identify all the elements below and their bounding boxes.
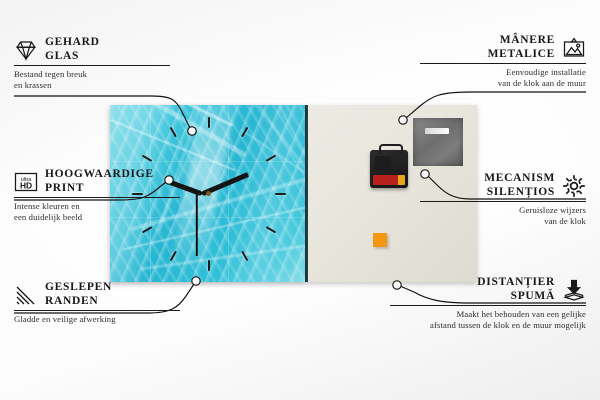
callout-title-line2: SPUMĂ	[386, 290, 555, 304]
callout-title-line2: PRINT	[45, 182, 154, 196]
callout-subtitle-line2: afstand tussen de klok en de muur mogeli…	[386, 320, 586, 331]
callout-subtitle-line2: van de klok	[416, 216, 586, 227]
callout-title-line1: MÂNERE	[488, 34, 555, 48]
product-infographic: GEHARD GLAS Bestand tegen breuk en krass…	[0, 0, 600, 400]
callout-subtitle-line1: Eenvoudige installatie	[416, 67, 586, 78]
callout-title-line2: RANDEN	[45, 295, 112, 309]
gear-icon	[562, 174, 586, 198]
ultra-hd-icon: ultra HD	[14, 170, 38, 194]
callout-subtitle-line1: Bestand tegen breuk	[14, 69, 184, 80]
callout-title-line2: SILENȚIOS	[484, 186, 555, 200]
callout-title-line1: MECANISM	[484, 172, 555, 186]
callout-subtitle-line1: Geruisloze wijzers	[416, 205, 586, 216]
callout-subtitle-line1: Gladde en veilige afwerking	[14, 314, 194, 325]
picture-frame-icon	[562, 36, 586, 60]
callout-subtitle-line1: Maakt het behouden van een gelijke	[386, 309, 586, 320]
download-tray-icon	[562, 278, 586, 302]
callout-subtitle-line2: van de klok aan de muur	[416, 78, 586, 89]
callout-title-line1: GEHARD	[45, 36, 100, 50]
diamond-icon	[14, 38, 38, 62]
callout-distantier-spuma: DISTANȚIER SPUMĂ Maakt het behouden van …	[386, 276, 586, 330]
callout-subtitle-line1: Intense kleuren en	[14, 201, 194, 212]
callout-subtitle-line2: en krassen	[14, 80, 184, 91]
callout-subtitle-line2: een duidelijk beeld	[14, 212, 194, 223]
callout-mecanism-silentios: MECANISM SILENȚIOS Geruisloze wijzers va…	[416, 172, 586, 226]
callout-title-line1: GESLEPEN	[45, 281, 112, 295]
callout-title-line1: DISTANȚIER	[386, 276, 555, 290]
callout-geslepen-randen: GESLEPEN RANDEN Gladde en veilige afwerk…	[14, 281, 194, 325]
bevelled-edge-icon	[14, 283, 38, 307]
callout-title-line2: GLAS	[45, 50, 100, 64]
callout-hoogwaardige-print: ultra HD HOOGWAARDIGE PRINT Intense kleu…	[14, 168, 194, 222]
callout-title-line1: HOOGWAARDIGE	[45, 168, 154, 182]
callout-manere-metalice: MÂNERE METALICE Eenvoudige installatie v…	[416, 34, 586, 88]
svg-text:HD: HD	[20, 180, 32, 190]
callout-gehard-glas: GEHARD GLAS Bestand tegen breuk en krass…	[14, 36, 184, 90]
callout-title-line2: METALICE	[488, 48, 555, 62]
